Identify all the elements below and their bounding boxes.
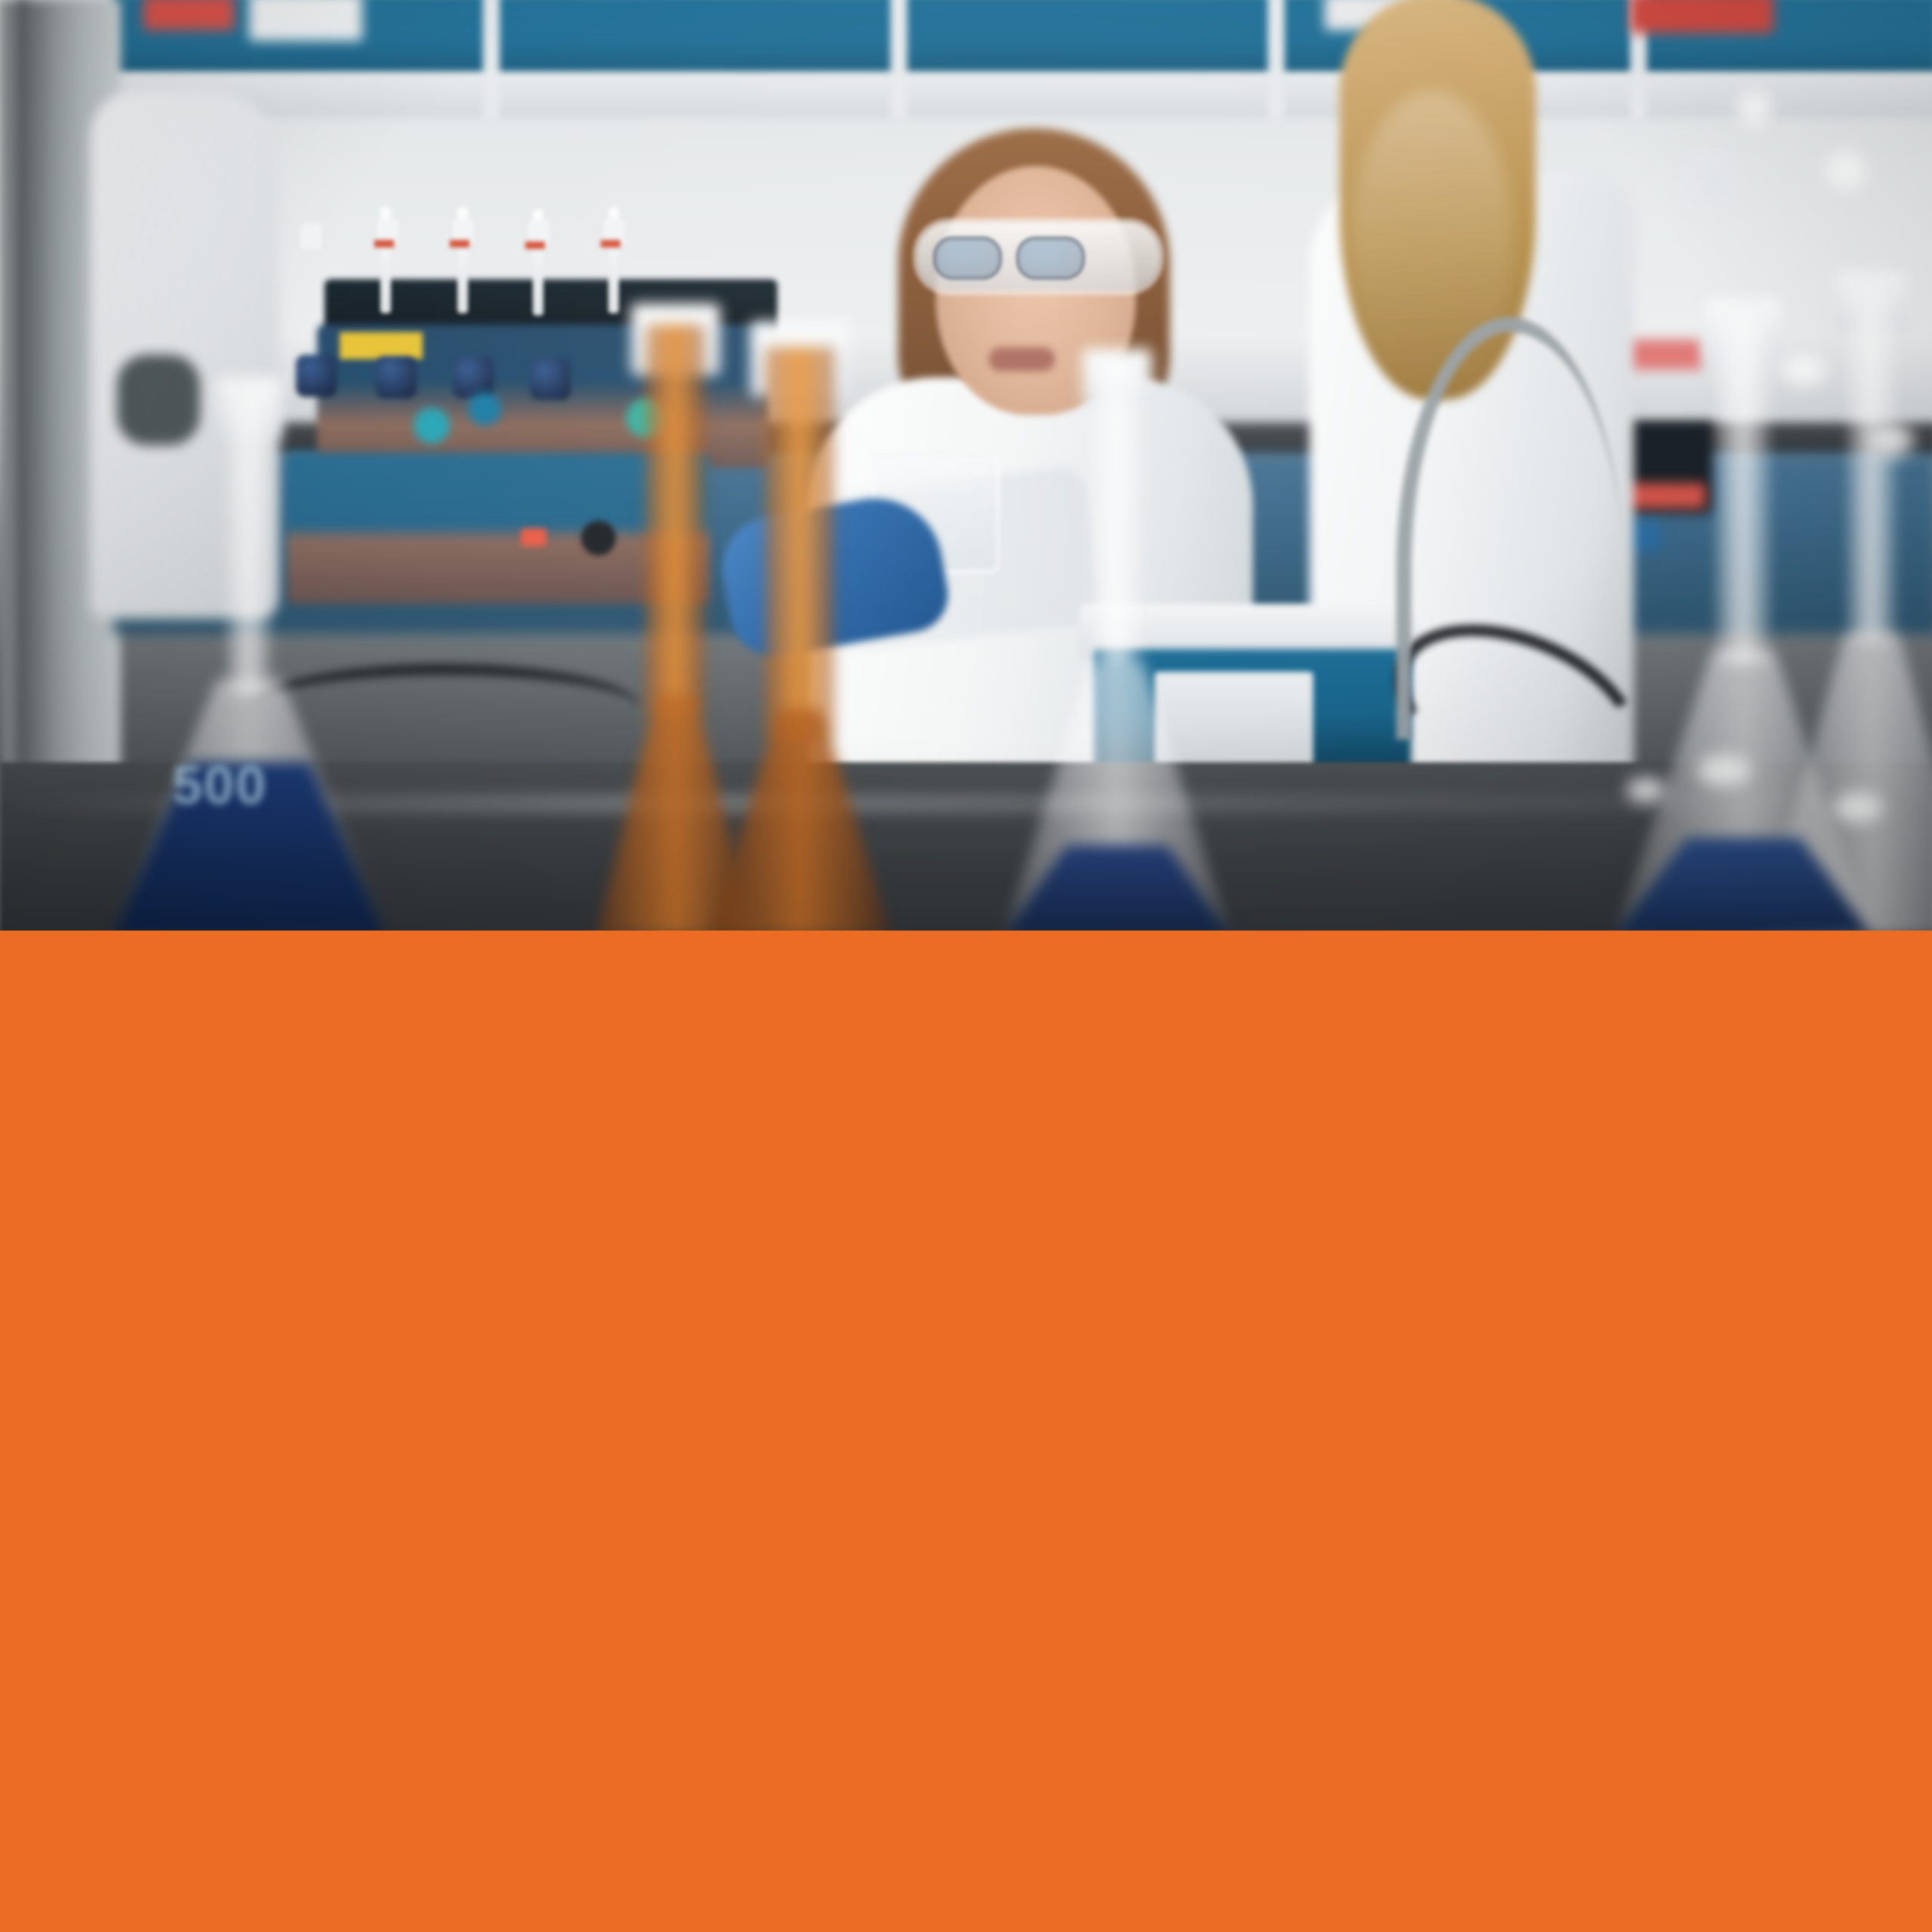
flask-neck — [1717, 317, 1770, 664]
eyeglass-lens-right — [1016, 236, 1085, 280]
instrument-indicator-led — [521, 528, 546, 546]
reagent-cap — [468, 392, 501, 426]
burette-cap — [300, 223, 321, 250]
cabinet-item — [1630, 0, 1774, 33]
poster: 500 THERE IS A FINE LINE BETWEEN PASSION… — [0, 0, 1932, 1932]
bokeh-highlight — [1737, 91, 1772, 125]
bokeh-highlight — [1781, 355, 1826, 385]
bokeh-highlight — [1834, 792, 1882, 823]
shelf-box — [1683, 151, 1736, 211]
cabinet-divider — [1268, 0, 1284, 121]
flask-neck — [1093, 362, 1141, 664]
flask-neck — [227, 392, 271, 694]
bokeh-highlight — [1872, 423, 1914, 457]
foreground-flask-right — [1615, 317, 1872, 931]
bokeh-highlight — [1826, 151, 1866, 190]
flask-volume-label: 500 — [172, 755, 285, 798]
reagent-cap — [414, 408, 450, 444]
flask-neck — [646, 325, 705, 717]
cabinet-item — [249, 0, 362, 41]
volumetric-flask-500ml — [113, 392, 385, 931]
burette-red-mark — [525, 241, 545, 249]
amber-flask-right — [709, 347, 891, 931]
eyeglass-lens-left — [933, 236, 1002, 280]
orange-panel: THERE IS A FINE LINE BETWEEN PASSION AND… — [0, 931, 1932, 1932]
flask-neck — [765, 347, 835, 740]
burette-red-mark — [450, 240, 469, 248]
foreground-flask-center — [1004, 362, 1230, 931]
cabinet-divider — [483, 0, 500, 121]
titrator-yellow-label — [340, 332, 423, 359]
sample-vial — [530, 358, 571, 400]
burette-red-mark — [601, 240, 620, 248]
flask-cone — [709, 709, 891, 931]
cabinet-divider — [891, 0, 907, 121]
bokeh-highlight — [1626, 777, 1666, 803]
burette-red-mark — [374, 240, 394, 248]
bokeh-highlight — [1698, 755, 1751, 786]
cabinet-item — [143, 0, 234, 30]
cabinet-shelf-edge — [113, 72, 1932, 118]
lab-photo: 500 — [0, 0, 1932, 931]
sample-vial — [296, 355, 337, 397]
